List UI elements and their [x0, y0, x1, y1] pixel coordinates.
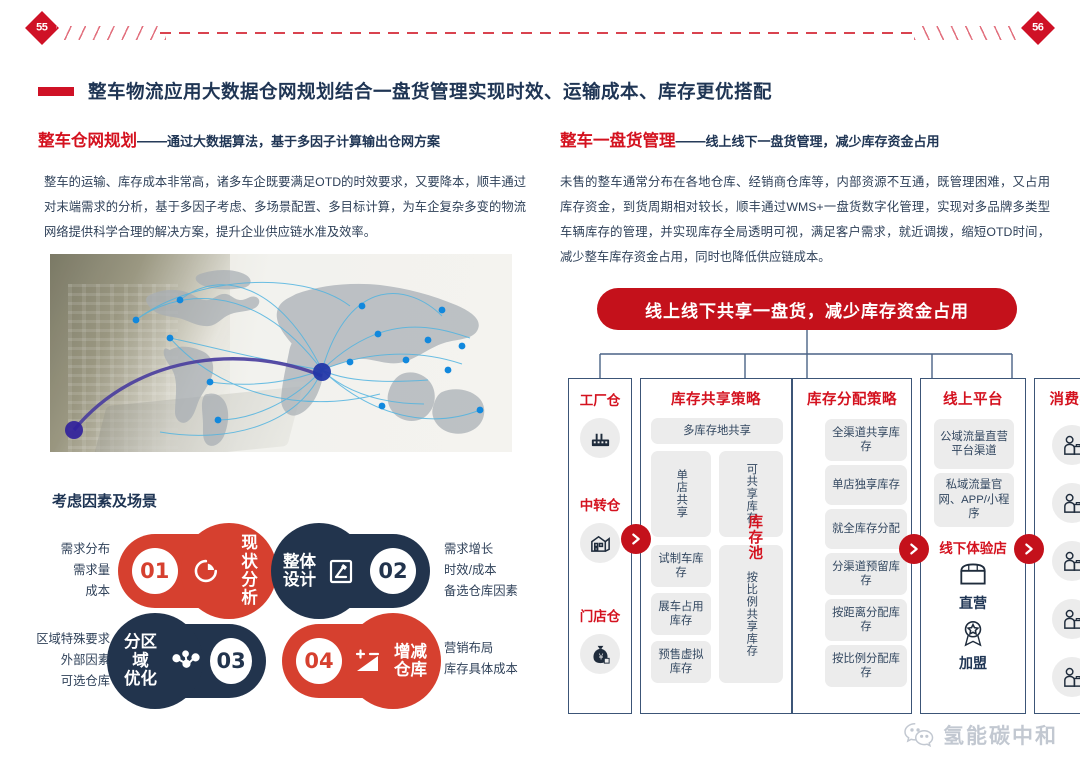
factor-pill-04[interactable]: 04 增减 仓库: [282, 624, 430, 698]
page-number-right: 56: [1032, 22, 1043, 34]
factor-side-text-04: 营销布局 库存具体成本: [444, 638, 554, 680]
diagram-col-online: 线上平台 公域流量直营平台渠道 私域流量官网、APP/小程序 线下体验店 直营 …: [920, 378, 1026, 714]
offline-franchise-item[interactable]: 加盟: [921, 619, 1025, 673]
network-nodes-icon: [171, 645, 200, 677]
right-column: 整车一盘货管理——线上线下一盘货管理，减少库存资金占用 未售的整车通常分布在各地…: [560, 132, 1050, 271]
factory-icon: [580, 418, 620, 458]
page-title: 整车物流应用大数据仓网规划结合一盘货管理实现时效、运输成本、库存更优搭配: [38, 78, 772, 104]
col-consumer-title: 消费者: [1035, 388, 1080, 409]
consumer-shopper-icon-4: [1052, 599, 1080, 639]
col-online-title: 线上平台: [921, 388, 1025, 409]
pie-chart-icon: [190, 555, 222, 587]
col-store-title: 门店仓: [569, 605, 631, 625]
chip-distance-alloc[interactable]: 按距离分配库存: [825, 599, 907, 641]
factor-number-04: 04: [296, 638, 342, 684]
consumer-shopper-icon-5: [1052, 657, 1080, 697]
page-number-left: 55: [36, 22, 47, 34]
col-alloc-title: 库存分配策略: [793, 388, 911, 409]
plus-minus-chart-icon: [352, 645, 384, 677]
left-subheading-desc: 通过大数据算法，基于多因子计算输出仓网方案: [167, 134, 440, 149]
page-title-text: 整车物流应用大数据仓网规划结合一盘货管理实现时效、运输成本、库存更优搭配: [88, 78, 772, 104]
right-subheading-title: 整车一盘货管理: [560, 132, 676, 150]
page-number-left-badge: 55: [25, 11, 59, 45]
factor-pill-02[interactable]: 整体 设计 02: [282, 534, 430, 608]
chip-ratio-alloc[interactable]: 按比例分配库存: [825, 645, 907, 687]
left-subheading-dash: ——: [137, 133, 167, 150]
dashed-rule: [160, 32, 920, 34]
svg-text:¥: ¥: [598, 652, 603, 661]
watermark: 氢能碳中和: [903, 720, 1058, 750]
right-subheading-desc: 线上线下一盘货管理，减少库存资金占用: [706, 134, 940, 149]
world-map-image: [50, 254, 512, 452]
diagram-col-alloc-strategy: 库存分配策略 全渠道共享库存 单店独享库存 就全库存分配 分渠道预留库存 按距离…: [792, 378, 912, 714]
badge-ribbon-icon: [958, 619, 988, 647]
chip-omnichannel-share[interactable]: 全渠道共享库存: [825, 419, 907, 461]
offline-franchise-label: 加盟: [921, 653, 1025, 673]
inventory-pool-label: 库存池: [746, 514, 761, 561]
left-paragraph: 整车的运输、库存成本非常高，诸多车企既要满足OTD的时效要求，又要降本，顺丰通过…: [38, 170, 530, 246]
chip-prototype-inventory[interactable]: 试制车库存: [651, 545, 711, 587]
col-factory-title: 工厂仓: [569, 389, 631, 409]
diagram-col-share-strategy: 库存共享策略 多库存地共享 单店共享 可共享库存 试制车库存 展车占用库存 预售…: [640, 378, 792, 714]
chip-single-store-share[interactable]: 单店共享: [651, 451, 711, 537]
factor-label-02: 整体 设计: [283, 553, 316, 590]
factor-label-04: 增减 仓库: [394, 643, 427, 680]
left-column: 整车仓网规划——通过大数据算法，基于多因子计算输出仓网方案 整车的运输、库存成本…: [38, 132, 530, 245]
diagram-banner: 线上线下共享一盘货，减少库存资金占用: [597, 288, 1017, 330]
right-subheading-dash: ——: [676, 133, 706, 150]
storefront-icon: [956, 561, 990, 587]
hatch-decoration-right: [914, 26, 1024, 40]
slide-page: 55 56 整车物流应用大数据仓网规划结合一盘货管理实现时效、运输成本、库存更优…: [0, 0, 1080, 764]
col-share-title: 库存共享策略: [641, 388, 791, 409]
factor-label-01: 现状 分析: [233, 534, 266, 608]
factor-side-text-02: 需求增长 时效/成本 备选仓库因素: [444, 539, 554, 602]
factor-number-03: 03: [210, 638, 252, 684]
factor-number-01: 01: [132, 548, 178, 594]
left-subheading-title: 整车仓网规划: [38, 132, 137, 150]
factor-label-03: 分区域 优化: [118, 633, 163, 688]
warehouse-icon: [580, 523, 620, 563]
col-transit-title: 中转仓: [569, 494, 631, 514]
factor-side-text-01: 需求分布 需求量 成本: [24, 539, 110, 602]
offline-direct-label: 直营: [921, 593, 1025, 613]
right-subheading: 整车一盘货管理——线上线下一盘货管理，减少库存资金占用: [560, 132, 1050, 152]
top-decoration-bar: 55 56: [0, 0, 1080, 50]
consumer-shopper-icon-3: [1052, 541, 1080, 581]
chevron-right-icon-3: [1014, 534, 1044, 564]
chip-channel-reserved[interactable]: 分渠道预留库存: [825, 553, 907, 595]
factor-pill-03[interactable]: 分区域 优化 03: [118, 624, 266, 698]
right-paragraph: 未售的整车通常分布在各地仓库、经销商仓库等，内部资源不互通，既管理困难，又占用库…: [560, 170, 1050, 271]
chip-presale-virtual-inventory[interactable]: 预售虚拟库存: [651, 641, 711, 683]
consumer-shopper-icon-2: [1052, 483, 1080, 523]
offline-store-title: 线下体验店: [921, 537, 1025, 557]
chip-private-traffic-channel[interactable]: 私域流量官网、APP/小程序: [934, 473, 1014, 527]
chip-multi-location-share[interactable]: 多库存地共享: [651, 418, 783, 444]
watermark-text: 氢能碳中和: [943, 720, 1058, 750]
wechat-icon: [903, 721, 935, 749]
factor-side-text-03: 区域特殊要求 外部因素 可选仓库: [10, 629, 110, 692]
chip-full-inventory-alloc[interactable]: 就全库存分配: [825, 509, 907, 549]
consumer-shopper-icon-1: [1052, 425, 1080, 465]
chip-display-car-inventory[interactable]: 展车占用库存: [651, 593, 711, 635]
left-subheading: 整车仓网规划——通过大数据算法，基于多因子计算输出仓网方案: [38, 132, 530, 152]
world-map-graphic: [50, 254, 512, 452]
chevron-right-icon-2: [899, 534, 929, 564]
money-bag-icon: ¥: [580, 634, 620, 674]
factor-number-02: 02: [370, 548, 416, 594]
chip-proportional-share-inventory[interactable]: 按比例共享库存: [719, 545, 783, 683]
factors-title: 考虑因素及场景: [52, 490, 157, 511]
hatch-decoration-left: [56, 26, 166, 40]
chip-public-traffic-channel[interactable]: 公域流量直营平台渠道: [934, 419, 1014, 469]
title-bullet-icon: [38, 87, 74, 96]
blueprint-pen-icon: [326, 555, 358, 587]
factor-pill-01[interactable]: 01 现状 分析: [118, 534, 266, 608]
inventory-diagram: 工厂仓 中转仓: [568, 378, 1050, 714]
page-number-right-badge: 56: [1021, 11, 1055, 45]
chip-single-store-exclusive[interactable]: 单店独享库存: [825, 465, 907, 505]
offline-direct-item[interactable]: 直营: [921, 561, 1025, 613]
chevron-right-icon-1: [621, 524, 651, 554]
